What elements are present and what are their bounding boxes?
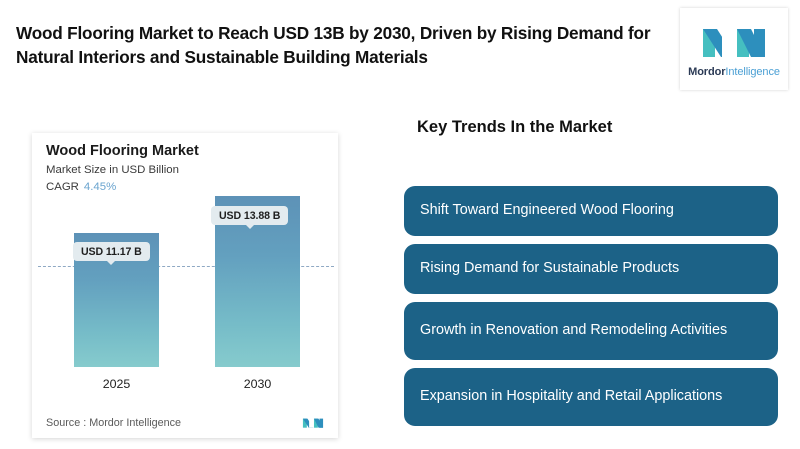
brand-wordmark: MordorIntelligence	[688, 66, 780, 78]
market-size-chart-card: Wood Flooring Market Market Size in USD …	[32, 133, 338, 438]
chart-source-text: Source : Mordor Intelligence	[46, 417, 181, 429]
chart-cagr: CAGR4.45%	[46, 181, 116, 193]
bar-chart-plot-area: USD 11.17 B USD 13.88 B 2025 2030	[32, 203, 338, 400]
x-axis-tick-2025: 2025	[74, 377, 159, 391]
chart-source-row: Source : Mordor Intelligence	[46, 416, 326, 429]
trend-card-4[interactable]: Expansion in Hospitality and Retail Appl…	[404, 368, 778, 426]
key-trends-list: Shift Toward Engineered Wood Flooring Ri…	[404, 186, 778, 434]
trend-card-3[interactable]: Growth in Renovation and Remodeling Acti…	[404, 302, 778, 360]
x-axis-tick-2030: 2030	[215, 377, 300, 391]
brand-wordmark-primary: Mordor	[688, 66, 725, 78]
header-banner: Wood Flooring Market to Reach USD 13B by…	[0, 0, 800, 100]
page-title: Wood Flooring Market to Reach USD 13B by…	[16, 22, 666, 69]
mordor-intelligence-logo-icon	[701, 21, 767, 61]
mordor-intelligence-mark-icon	[300, 416, 326, 429]
bar-value-label-2025: USD 11.17 B	[73, 242, 150, 261]
trend-card-1[interactable]: Shift Toward Engineered Wood Flooring	[404, 186, 778, 236]
brand-logo: MordorIntelligence	[680, 8, 788, 90]
chart-title: Wood Flooring Market	[46, 143, 199, 159]
chart-subtitle: Market Size in USD Billion	[46, 164, 179, 176]
key-trends-heading: Key Trends In the Market	[417, 118, 612, 137]
trend-card-2[interactable]: Rising Demand for Sustainable Products	[404, 244, 778, 294]
bar-value-label-2030: USD 13.88 B	[211, 206, 288, 225]
chart-cagr-label: CAGR	[46, 181, 79, 193]
brand-wordmark-secondary: Intelligence	[725, 66, 779, 78]
chart-cagr-value: 4.45%	[84, 181, 116, 193]
